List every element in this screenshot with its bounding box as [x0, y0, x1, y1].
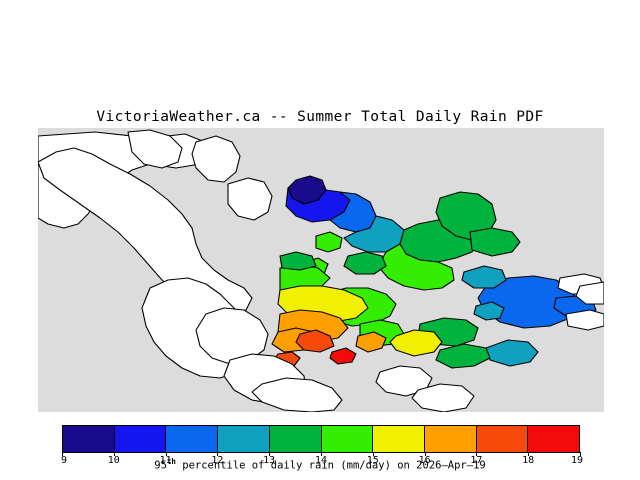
colorbar-band-13-14[interactable]	[270, 426, 322, 452]
map-panel[interactable]	[0, 128, 640, 412]
region-east-green-island-c[interactable]	[470, 228, 520, 256]
caption-prefix: 95	[154, 460, 167, 472]
page-title: VictoriaWeather.ca -- Summer Total Daily…	[0, 109, 640, 125]
region-islet-green-b[interactable]	[344, 252, 386, 274]
left-margin-mask	[0, 128, 38, 412]
colorbar-band-17-18[interactable]	[477, 426, 529, 452]
weather-map-page: VictoriaWeather.ca -- Summer Total Daily…	[0, 0, 640, 480]
colorbar-band-14-15[interactable]	[322, 426, 374, 452]
colorbar-band-11-12[interactable]	[166, 426, 218, 452]
colorbar-band-18-19[interactable]	[528, 426, 579, 452]
map-graphic[interactable]	[0, 128, 640, 412]
colorbar-band-16-17[interactable]	[425, 426, 477, 452]
land-east-white-tail	[566, 310, 604, 330]
colorbar-band-10-11[interactable]	[115, 426, 167, 452]
caption-superscript: th	[167, 457, 176, 466]
colorbar-caption: 95th percentile of daily rain (mm/day) o…	[0, 457, 640, 472]
caption-rest: percentile of daily rain (mm/day) on 202…	[176, 460, 486, 472]
colorbar-band-12-13[interactable]	[218, 426, 270, 452]
colorbar-band-15-16[interactable]	[373, 426, 425, 452]
colorbar-band-9-10[interactable]	[63, 426, 115, 452]
right-margin-mask	[604, 128, 640, 412]
colorbar-strip[interactable]	[62, 425, 580, 453]
